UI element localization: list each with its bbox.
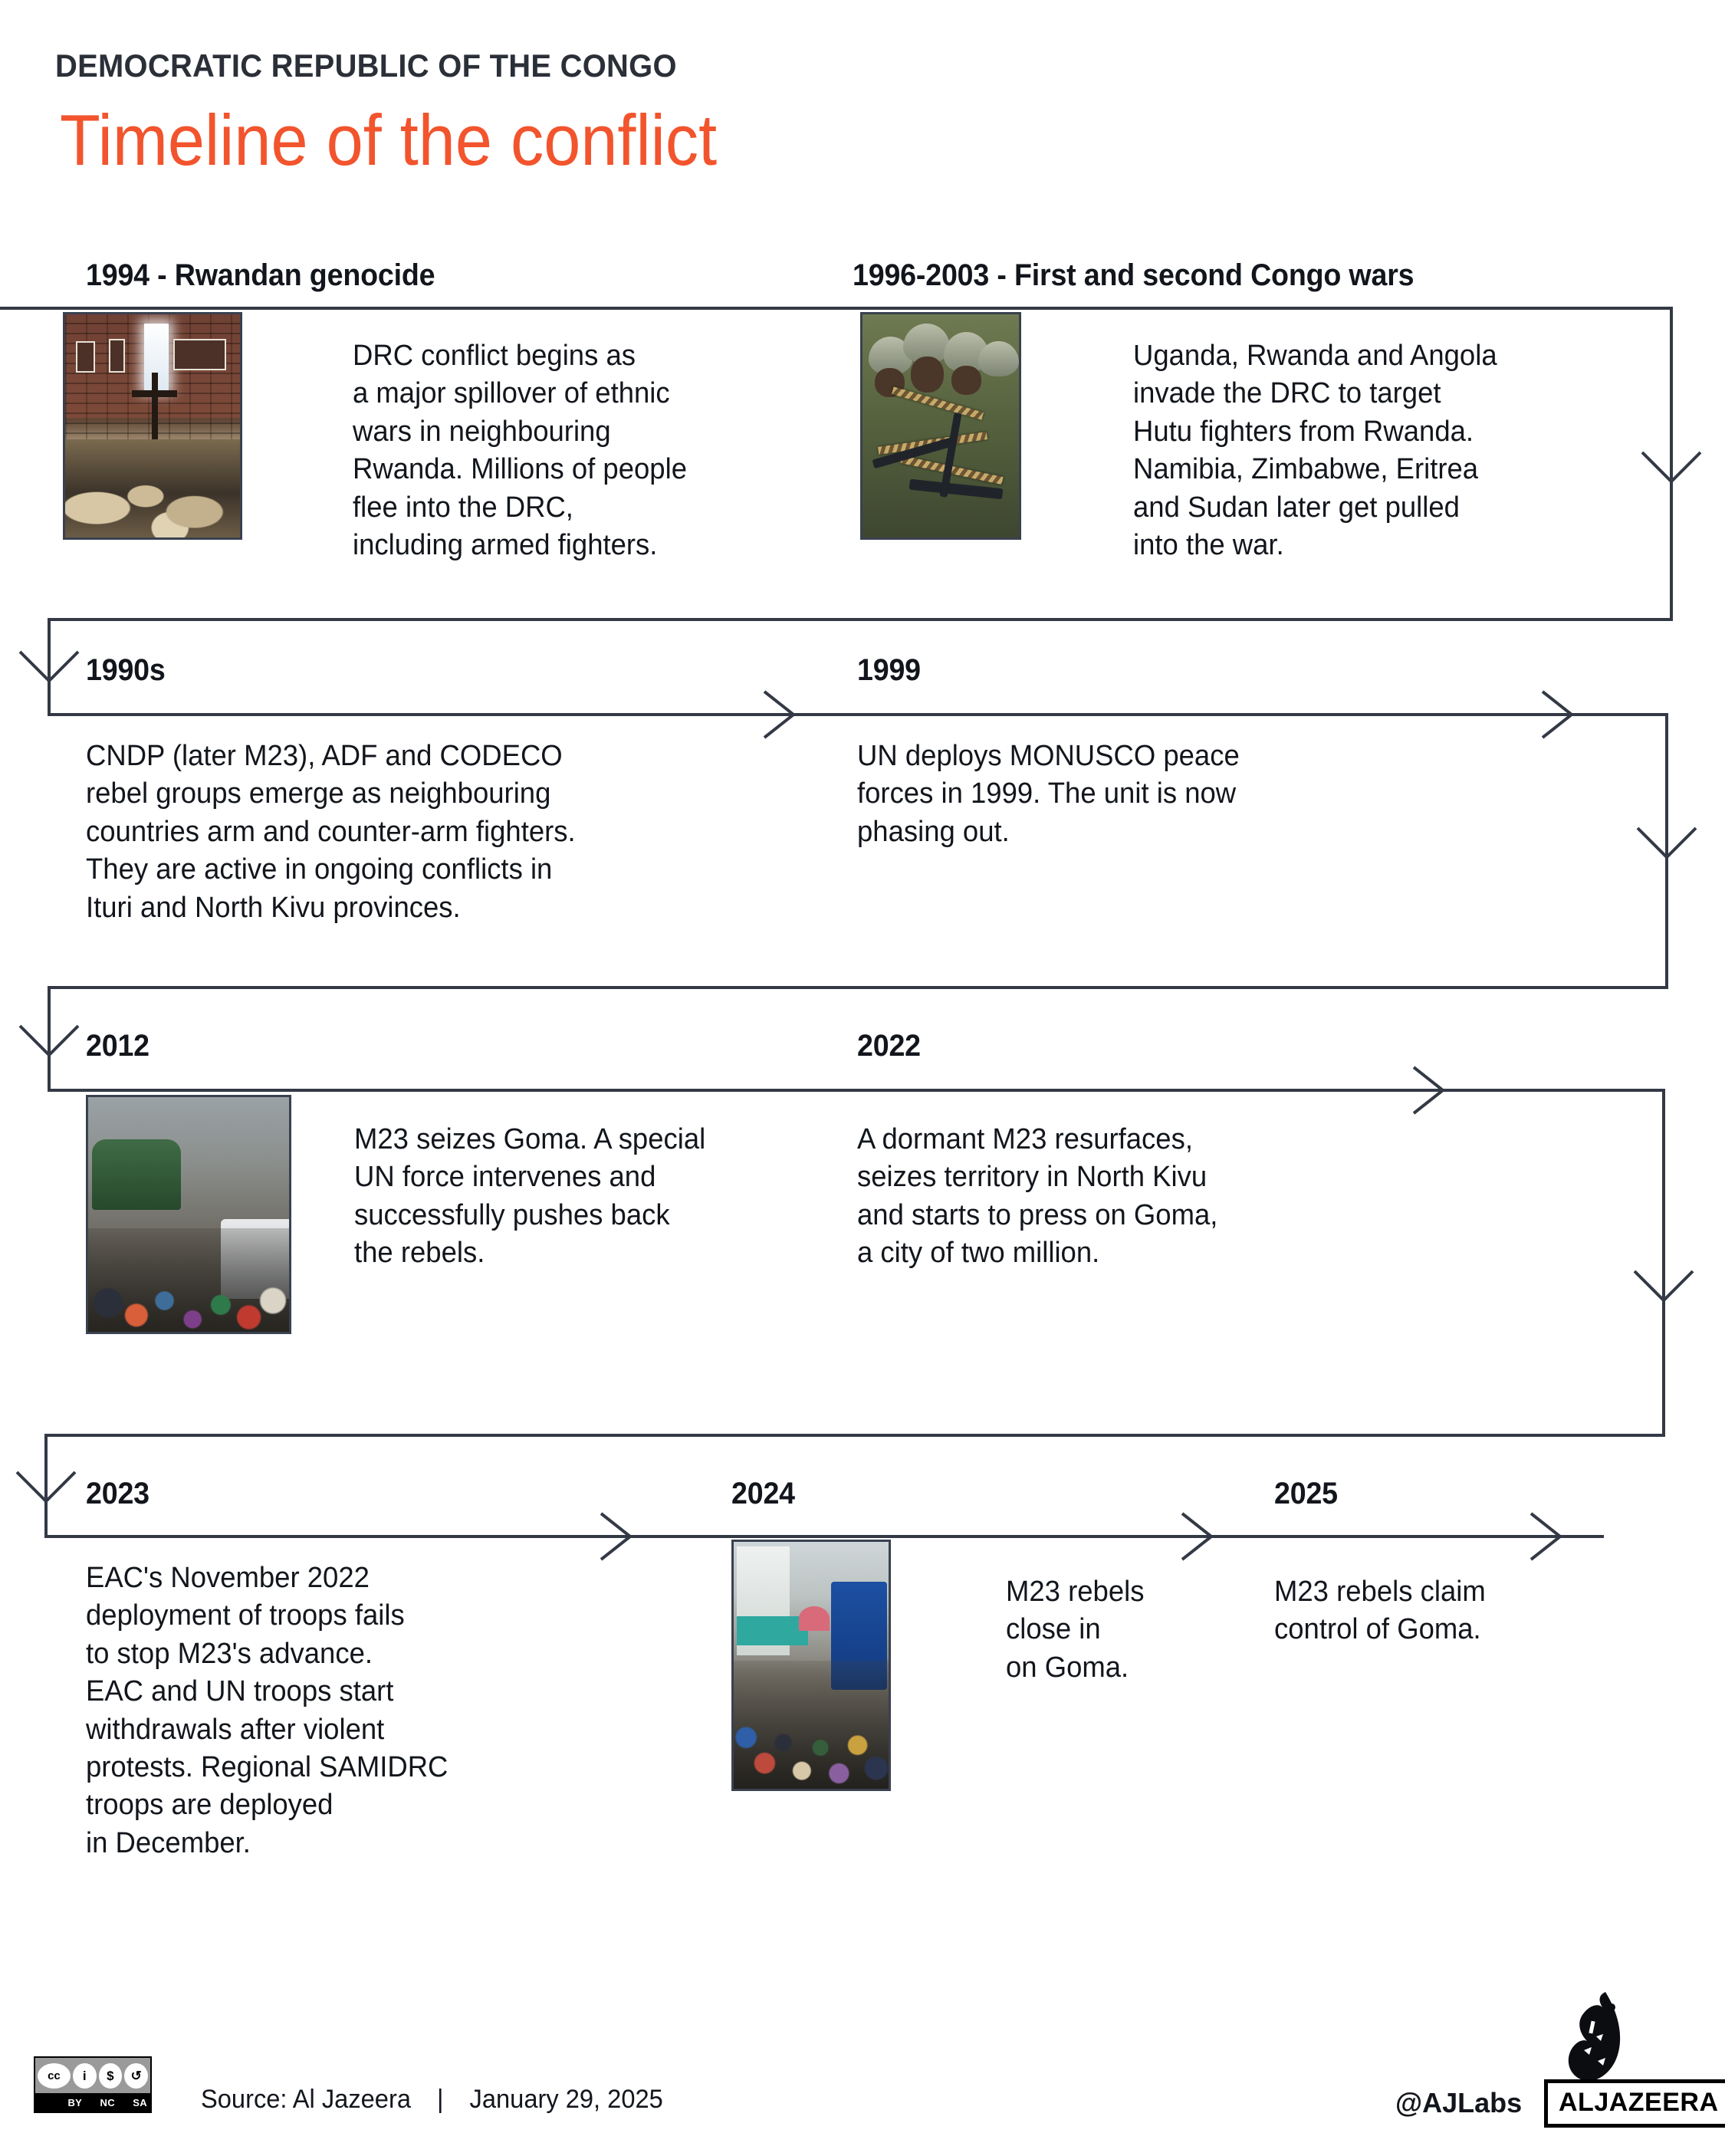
timeline-year-2025: 2025: [1274, 1477, 1338, 1511]
page-title: Timeline of the conflict: [60, 104, 717, 176]
cc-label-nc: NC: [100, 2097, 115, 2108]
source-line: Source: Al Jazeera | January 29, 2025: [201, 2085, 663, 2115]
page-kicker: DEMOCRATIC REPUBLIC OF THE CONGO: [55, 48, 677, 84]
timeline-arrow-right-2a: [755, 684, 809, 745]
timeline-text-2024: M23 rebels close in on Goma.: [1006, 1573, 1249, 1687]
publish-date: January 29, 2025: [470, 2085, 663, 2114]
timeline-arrow-right-3a: [1405, 1060, 1458, 1121]
noncommercial-icon: $: [99, 2063, 123, 2089]
ajlabs-handle: @AJLabs: [1395, 2087, 1522, 2119]
timeline-arrow-down-6: [9, 1466, 83, 1515]
timeline-arrow-down-3: [1630, 822, 1704, 871]
aljazeera-wordmark-text: ALJAZEERA: [1559, 2088, 1719, 2117]
infographic-page: DEMOCRATIC REPUBLIC OF THE CONGO Timelin…: [0, 0, 1725, 2156]
timeline-year-2024: 2024: [731, 1477, 795, 1511]
timeline-arrow-right-4c: [1522, 1506, 1575, 1567]
source-label: Source: Al Jazeera: [201, 2085, 411, 2114]
timeline-arrow-right-4a: [592, 1506, 646, 1567]
timeline-text-2012: M23 seizes Goma. A special UN force inte…: [354, 1121, 825, 1273]
timeline-rail-row4-top: [44, 1434, 1665, 1437]
timeline-year-1994: 1994 - Rwandan genocide: [86, 258, 435, 293]
aljazeera-flame-logo: [1550, 1990, 1635, 2089]
timeline-rail-row1: [0, 307, 1673, 310]
timeline-rail-row3-top: [48, 986, 1668, 989]
timeline-text-1994: DRC conflict begins as a major spillover…: [353, 337, 823, 564]
timeline-text-1990s: CNDP (later M23), ADF and CODECO rebel g…: [86, 738, 748, 927]
photo-soldiers: [860, 312, 1021, 540]
timeline-arrow-down-1: [1633, 445, 1710, 498]
timeline-year-2012: 2012: [86, 1029, 149, 1063]
timeline-arrow-down-2: [12, 646, 86, 695]
photo-goma-market: [731, 1540, 891, 1791]
timeline-arrow-right-2b: [1533, 684, 1587, 745]
creative-commons-badge: cc i $ ↺ cc BY NC SA: [34, 2056, 152, 2113]
timeline-year-2022: 2022: [857, 1029, 921, 1063]
cc-label-row: cc BY NC SA: [35, 2093, 150, 2112]
source-separator: |: [418, 2085, 462, 2115]
timeline-drop-row3-right: [1662, 1089, 1665, 1437]
photo-church-rubble: [63, 312, 242, 540]
sharealike-icon: ↺: [124, 2063, 148, 2089]
aljazeera-wordmark: ALJAZEERA: [1544, 2079, 1725, 2128]
timeline-year-1999: 1999: [857, 653, 921, 688]
cc-label-by: BY: [67, 2097, 82, 2108]
timeline-arrow-down-5: [1627, 1265, 1700, 1314]
timeline-text-1999: UN deploys MONUSCO peace forces in 1999.…: [857, 738, 1372, 851]
cc-icon: cc: [38, 2063, 71, 2089]
cc-label-sa: SA: [133, 2097, 147, 2108]
timeline-year-2023: 2023: [86, 1477, 149, 1511]
timeline-arrow-down-4: [12, 1020, 86, 1069]
timeline-year-1996-2003: 1996-2003 - First and second Congo wars: [853, 258, 1414, 293]
timeline-rail-row2: [48, 713, 1668, 716]
attribution-icon: i: [73, 2063, 97, 2089]
timeline-text-1996-2003: Uganda, Rwanda and Angola invade the DRC…: [1133, 337, 1634, 564]
timeline-text-2022: A dormant M23 resurfaces, seizes territo…: [857, 1121, 1387, 1273]
timeline-rail-row2-top: [48, 618, 1673, 621]
photo-goma-street: [86, 1095, 291, 1334]
timeline-arrow-right-4b: [1173, 1506, 1227, 1567]
timeline-text-2023: EAC's November 2022 deployment of troops…: [86, 1559, 572, 1862]
timeline-year-1990s: 1990s: [86, 653, 166, 688]
cc-icon-row: cc i $ ↺: [35, 2058, 150, 2093]
timeline-text-2025: M23 rebels claim control of Goma.: [1274, 1573, 1598, 1649]
timeline-rail-row4: [44, 1535, 1604, 1538]
